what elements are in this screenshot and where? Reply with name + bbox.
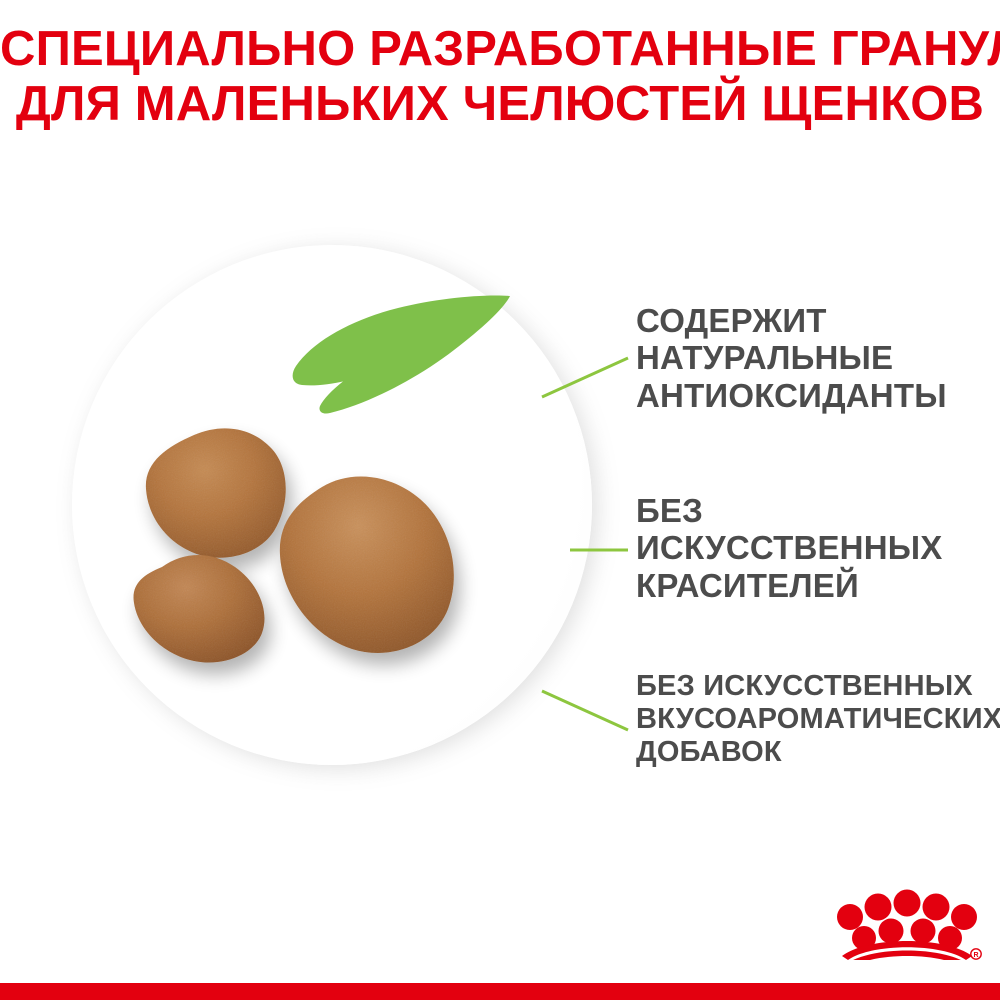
- headline-line-1: СПЕЦИАЛЬНО РАЗРАБОТАННЫЕ ГРАНУЛЫ: [0, 26, 1000, 73]
- kibble-piece: [280, 477, 454, 653]
- kibble-group: [90, 415, 510, 715]
- bottom-accent-bar: [0, 983, 1000, 1000]
- registered-trademark-icon: R: [971, 949, 981, 959]
- kibble-piece: [146, 428, 286, 557]
- connector-line-2: [568, 540, 630, 565]
- connector-line-3: [540, 688, 630, 733]
- svg-text:R: R: [973, 952, 978, 959]
- leaf-icon: [288, 292, 518, 417]
- page-title: СПЕЦИАЛЬНО РАЗРАБОТАННЫЕ ГРАНУЛЫ ДЛЯ МАЛ…: [0, 26, 1000, 127]
- feature-text-no-flavourings: БЕЗ ИСКУССТВЕННЫХ ВКУСОАРОМАТИЧЕСКИХ ДОБ…: [636, 670, 1000, 768]
- connector-line-1: [540, 355, 630, 400]
- kibble-piece: [134, 555, 265, 663]
- promo-banner: СПЕЦИАЛЬНО РАЗРАБОТАННЫЕ ГРАНУЛЫ ДЛЯ МАЛ…: [0, 0, 1000, 1000]
- royal-canin-logo: R: [828, 884, 986, 960]
- feature-text-no-colourants: БЕЗ ИСКУССТВЕННЫХ КРАСИТЕЛЕЙ: [636, 492, 942, 604]
- headline-line-2: ДЛЯ МАЛЕНЬКИХ ЧЕЛЮСТЕЙ ЩЕНКОВ: [0, 81, 1000, 128]
- feature-text-antioxidants: СОДЕРЖИТ НАТУРАЛЬНЫЕ АНТИОКСИДАНТЫ: [636, 302, 947, 414]
